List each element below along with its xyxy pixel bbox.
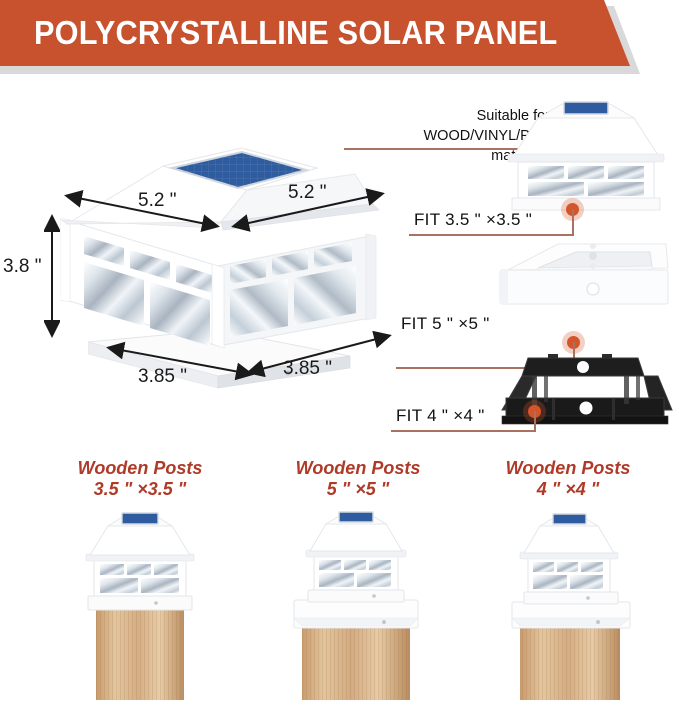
suitable-for-connector-line bbox=[344, 148, 522, 150]
dimension-arrow-height bbox=[44, 210, 60, 347]
solar-cap-front-view bbox=[506, 96, 666, 217]
white-adapter-frame bbox=[490, 240, 675, 325]
dimension-label-base-left: 3.85 " bbox=[138, 366, 187, 388]
callout-label-2: FIT 5 " ×5 " bbox=[401, 314, 490, 334]
bottom-post-illustration-2 bbox=[266, 508, 450, 705]
bottom-example-title-1: Wooden Posts bbox=[40, 458, 240, 479]
bottom-example-size-1: 3.5 " ×3.5 " bbox=[40, 479, 240, 500]
dimension-label-top-left: 5.2 " bbox=[138, 190, 176, 212]
bottom-example-title-3: Wooden Posts bbox=[468, 458, 668, 479]
bottom-example-title-2: Wooden Posts bbox=[258, 458, 458, 479]
header-banner: POLYCRYSTALLINE SOLAR PANEL bbox=[0, 0, 679, 78]
callout-connector-v-1 bbox=[572, 209, 574, 235]
callout-connector-h-1 bbox=[409, 234, 574, 236]
dimension-label-top-right: 5.2 " bbox=[288, 182, 326, 204]
bottom-example-label-1: Wooden Posts 3.5 " ×3.5 " bbox=[40, 458, 240, 500]
dimension-label-base-right: 3.85 " bbox=[283, 358, 332, 380]
infographic-page: POLYCRYSTALLINE SOLAR PANEL bbox=[0, 0, 679, 700]
dimension-label-height: 3.8 " bbox=[3, 256, 41, 278]
callout-connector-h-3 bbox=[391, 430, 536, 432]
callout-label-1: FIT 3.5 " ×3.5 " bbox=[414, 210, 532, 230]
bottom-example-label-2: Wooden Posts 5 " ×5 " bbox=[258, 458, 458, 500]
bottom-post-illustration-3 bbox=[478, 508, 662, 705]
bottom-example-label-3: Wooden Posts 4 " ×4 " bbox=[468, 458, 668, 500]
black-adapter-frame bbox=[492, 340, 677, 435]
bottom-example-size-2: 5 " ×5 " bbox=[258, 479, 458, 500]
bottom-post-illustration-1 bbox=[52, 508, 228, 705]
callout-label-3: FIT 4 " ×4 " bbox=[396, 406, 485, 426]
bottom-example-size-3: 4 " ×4 " bbox=[468, 479, 668, 500]
callout-connector-v-3 bbox=[534, 411, 536, 431]
page-title: POLYCRYSTALLINE SOLAR PANEL bbox=[34, 14, 557, 52]
